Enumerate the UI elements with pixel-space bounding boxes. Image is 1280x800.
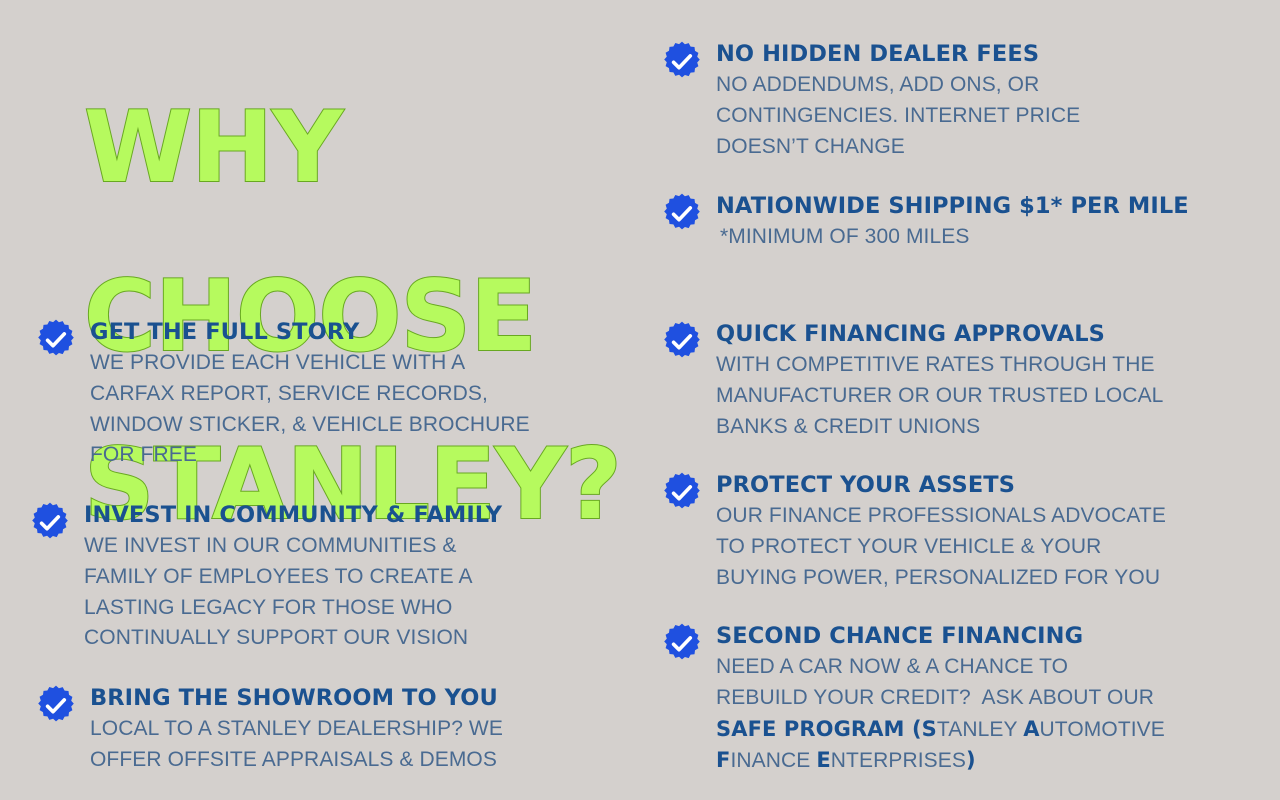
left-feature-column: GET THE FULL STORY WE PROVIDE EACH VEHIC… xyxy=(0,0,640,800)
feature-title: QUICK FINANCING APPROVALS xyxy=(716,320,1240,349)
feature-description: *MINIMUM OF 300 MILES xyxy=(716,222,1240,253)
feature-body: NO HIDDEN DEALER FEES NO ADDENDUMS, ADD … xyxy=(716,40,1240,162)
feature-description: WE INVEST IN OUR COMMUNITIES & FAMILY OF… xyxy=(84,531,608,654)
feature-item-quick-financing-approvals: QUICK FINANCING APPROVALS WITH COMPETITI… xyxy=(660,320,1240,442)
right-feature-column: NO HIDDEN DEALER FEES NO ADDENDUMS, ADD … xyxy=(640,0,1280,800)
check-badge-icon xyxy=(660,622,704,666)
feature-item-no-hidden-dealer-fees: NO HIDDEN DEALER FEES NO ADDENDUMS, ADD … xyxy=(660,40,1240,162)
feature-description: NEED A CAR NOW & A CHANCE TOREBUILD YOUR… xyxy=(716,652,1240,777)
feature-item-second-chance-financing: SECOND CHANCE FINANCING NEED A CAR NOW &… xyxy=(660,622,1240,777)
feature-body: INVEST IN COMMUNITY & FAMILY WE INVEST I… xyxy=(84,501,608,654)
poster-canvas: WHY CHOOSE STANLEY? GET THE FULL STORY W… xyxy=(0,0,1280,800)
feature-title: BRING THE SHOWROOM TO YOU xyxy=(90,684,614,713)
feature-item-nationwide-shipping: NATIONWIDE SHIPPING $1* PER MILE *MINIMU… xyxy=(660,192,1240,253)
feature-body: GET THE FULL STORY WE PROVIDE EACH VEHIC… xyxy=(90,318,614,471)
feature-description: NO ADDENDUMS, ADD ONS, OR CONTINGENCIES.… xyxy=(716,70,1240,163)
check-badge-icon xyxy=(660,320,704,364)
feature-item-invest-in-community-and-family: INVEST IN COMMUNITY & FAMILY WE INVEST I… xyxy=(28,501,608,654)
feature-description: WE PROVIDE EACH VEHICLE WITH A CARFAX RE… xyxy=(90,348,614,471)
feature-item-get-the-full-story: GET THE FULL STORY WE PROVIDE EACH VEHIC… xyxy=(34,318,614,471)
feature-body: NATIONWIDE SHIPPING $1* PER MILE *MINIMU… xyxy=(716,192,1240,253)
feature-description: OUR FINANCE PROFESSIONALS ADVOCATE TO PR… xyxy=(716,501,1240,594)
feature-description: LOCAL TO A STANLEY DEALERSHIP? WE OFFER … xyxy=(90,714,614,776)
check-badge-icon xyxy=(34,318,78,362)
feature-description: WITH COMPETITIVE RATES THROUGH THE MANUF… xyxy=(716,350,1240,443)
feature-item-protect-your-assets: PROTECT YOUR ASSETS OUR FINANCE PROFESSI… xyxy=(660,471,1240,593)
feature-body: SECOND CHANCE FINANCING NEED A CAR NOW &… xyxy=(716,622,1240,777)
feature-title: PROTECT YOUR ASSETS xyxy=(716,471,1240,500)
feature-body: BRING THE SHOWROOM TO YOU LOCAL TO A STA… xyxy=(90,684,614,776)
feature-title: GET THE FULL STORY xyxy=(90,318,614,347)
check-badge-icon xyxy=(660,192,704,236)
check-badge-icon xyxy=(660,40,704,84)
feature-title: NO HIDDEN DEALER FEES xyxy=(716,40,1240,69)
feature-title: NATIONWIDE SHIPPING $1* PER MILE xyxy=(716,192,1240,221)
feature-item-bring-the-showroom-to-you: BRING THE SHOWROOM TO YOU LOCAL TO A STA… xyxy=(34,684,614,776)
feature-title: INVEST IN COMMUNITY & FAMILY xyxy=(84,501,608,530)
feature-body: PROTECT YOUR ASSETS OUR FINANCE PROFESSI… xyxy=(716,471,1240,593)
check-badge-icon xyxy=(34,684,78,728)
feature-title: SECOND CHANCE FINANCING xyxy=(716,622,1240,651)
check-badge-icon xyxy=(28,501,72,545)
feature-body: QUICK FINANCING APPROVALS WITH COMPETITI… xyxy=(716,320,1240,442)
check-badge-icon xyxy=(660,471,704,515)
